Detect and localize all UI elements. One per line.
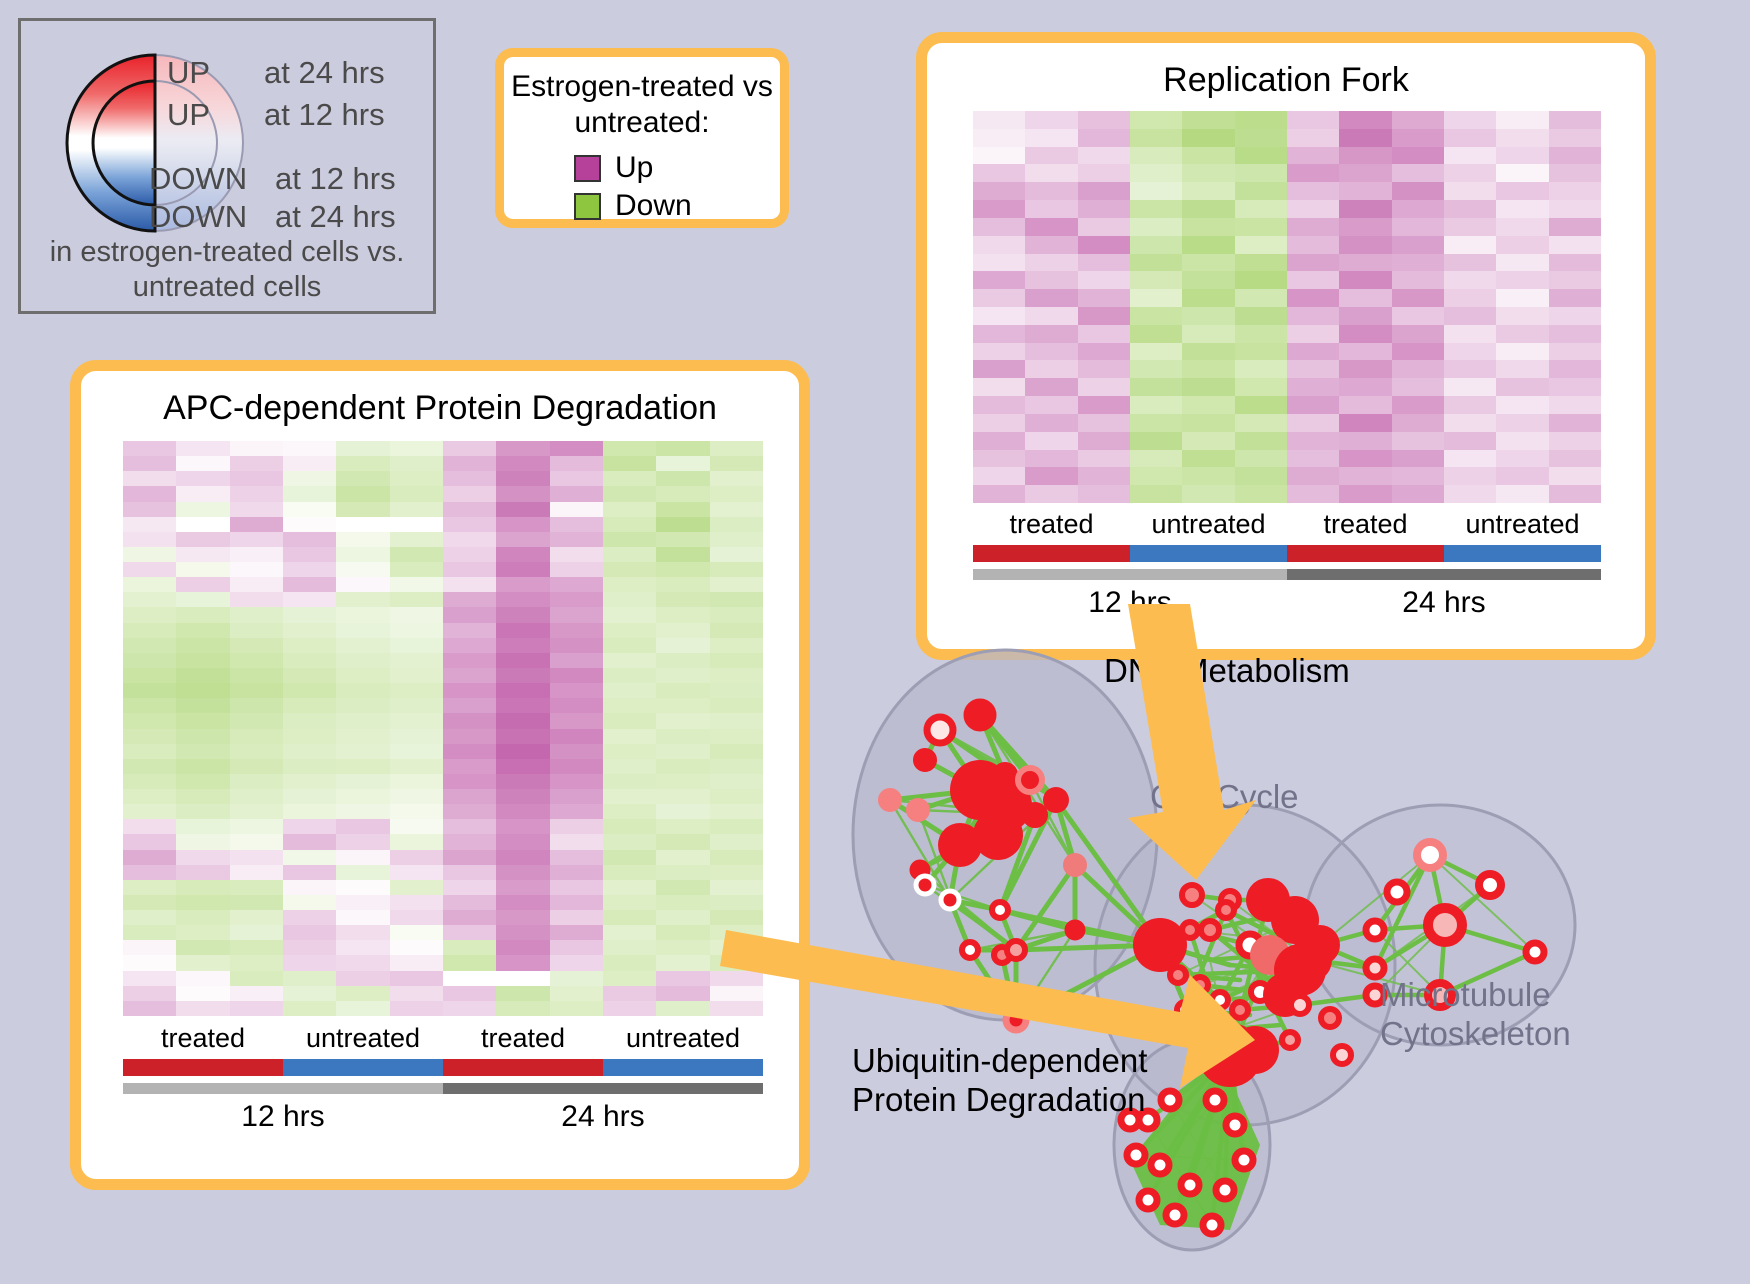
heatmap-cell	[230, 910, 283, 925]
heatmap-cell	[1025, 164, 1077, 182]
heatmap-cell	[1339, 450, 1391, 468]
heatmap-cell	[1078, 164, 1130, 182]
heatmap-cell	[550, 804, 603, 819]
heatmap-cell	[283, 517, 336, 532]
heatmap-cell	[1025, 360, 1077, 378]
heatmap-cell	[390, 562, 443, 577]
heatmap-cell	[603, 1001, 656, 1016]
heatmap-cell	[496, 441, 549, 456]
heatmap-cell	[1392, 111, 1444, 129]
heatmap-cell	[603, 759, 656, 774]
heatmap-cell	[390, 865, 443, 880]
heatmap-cell	[1235, 271, 1287, 289]
heatmap-cell	[1182, 289, 1234, 307]
panel-replication-fork-title: Replication Fork	[927, 61, 1645, 100]
heatmap-cell	[1078, 147, 1130, 165]
heatmap-cell	[390, 729, 443, 744]
heatmap-cell	[496, 486, 549, 501]
heatmap-cell	[973, 467, 1025, 485]
heatmap-cell	[283, 607, 336, 622]
heatmap-cell	[656, 713, 709, 728]
heatmap-cell	[550, 834, 603, 849]
heatmap-cell	[390, 880, 443, 895]
heatmap-cell	[973, 218, 1025, 236]
heatmap-cell	[1392, 432, 1444, 450]
heatmap-cell	[336, 880, 389, 895]
heatmap-cell	[230, 804, 283, 819]
heatmap-cell	[496, 925, 549, 940]
heatmap-cell	[1392, 147, 1444, 165]
heatmap-cell	[603, 744, 656, 759]
heatmap-cell	[1235, 129, 1287, 147]
time-bar-24hrs	[1287, 569, 1601, 580]
heatmap-cell	[656, 910, 709, 925]
heatmap-cell	[973, 147, 1025, 165]
heatmap-cell	[603, 910, 656, 925]
heatmap-cell	[973, 396, 1025, 414]
heatmap-cell	[496, 986, 549, 1001]
heatmap-cell	[496, 880, 549, 895]
heatmap-cell	[176, 971, 229, 986]
heatmap-cell	[390, 1001, 443, 1016]
heatmap-cell	[1025, 343, 1077, 361]
heatmap-cell	[1339, 129, 1391, 147]
heatmap-cell	[710, 819, 763, 834]
heatmap-cell	[123, 638, 176, 653]
heatmap-cell	[443, 592, 496, 607]
heatmap-cell	[1444, 111, 1496, 129]
heatmap-cell	[603, 441, 656, 456]
heatmap-cell	[496, 759, 549, 774]
heatmap-cell	[390, 486, 443, 501]
heatmap-cell	[603, 834, 656, 849]
heatmap-cell	[283, 592, 336, 607]
heatmap-cell	[390, 517, 443, 532]
heatmap-cell	[443, 880, 496, 895]
heatmap-cell	[1078, 111, 1130, 129]
heatmap-cell	[1025, 432, 1077, 450]
heatmap-cell	[656, 517, 709, 532]
heatmap-cell	[283, 502, 336, 517]
heatmap-cell	[283, 729, 336, 744]
heatmap-cell	[1182, 485, 1234, 503]
heatmap-cell	[1496, 378, 1548, 396]
heatmap-cell	[336, 895, 389, 910]
heatmap-cell	[123, 940, 176, 955]
heatmap-cell	[176, 729, 229, 744]
heatmap-cell	[1444, 289, 1496, 307]
heatmap-cell	[230, 713, 283, 728]
heatmap-cell	[336, 744, 389, 759]
heatmap-cell	[390, 668, 443, 683]
heatmap-cell	[176, 865, 229, 880]
heatmap-cell	[336, 547, 389, 562]
heatmap-cell	[336, 834, 389, 849]
heatmap-cell	[656, 744, 709, 759]
heatmap-cell	[1130, 254, 1182, 272]
heatmap-cell	[1025, 147, 1077, 165]
heatmap-cell	[550, 729, 603, 744]
treatment-bar-untreated-12	[283, 1059, 443, 1076]
heatmap-cell	[1078, 378, 1130, 396]
heatmap-cell	[1235, 218, 1287, 236]
heatmap-cell	[710, 865, 763, 880]
heatmap-cell	[390, 683, 443, 698]
heatmap-cell	[1078, 343, 1130, 361]
heatmap-cell	[390, 955, 443, 970]
heatmap-cell	[1235, 343, 1287, 361]
heatmap-cell	[1392, 360, 1444, 378]
heatmap-cell	[443, 577, 496, 592]
heatmap-cell	[710, 502, 763, 517]
heatmap-cell	[550, 562, 603, 577]
heatmap-cell	[1444, 396, 1496, 414]
heatmap-cell	[176, 441, 229, 456]
heatmap-cell	[550, 683, 603, 698]
heatmap-cell	[176, 471, 229, 486]
heatmap-cell	[390, 925, 443, 940]
heatmap-cell	[550, 910, 603, 925]
heatmap-cell	[336, 502, 389, 517]
heatmap-cell	[336, 577, 389, 592]
heatmap-cell	[1025, 271, 1077, 289]
heatmap-cell	[123, 486, 176, 501]
heatmap-cell	[496, 910, 549, 925]
heatmap-cell	[550, 623, 603, 638]
heatmap-cell	[443, 910, 496, 925]
heatmap-cell	[496, 834, 549, 849]
heatmap-cell	[1339, 254, 1391, 272]
heatmap-cell	[603, 940, 656, 955]
heatmap-cell	[123, 456, 176, 471]
heatmap-cell	[603, 668, 656, 683]
heatmap-cell	[1025, 129, 1077, 147]
heatmap-cell	[710, 486, 763, 501]
heatmap-cell	[1496, 271, 1548, 289]
heatmap-cell	[656, 774, 709, 789]
heatmap-cell	[1182, 271, 1234, 289]
heatmap-cell	[603, 547, 656, 562]
heatmap-cell	[550, 955, 603, 970]
heatmap-cell	[230, 850, 283, 865]
heatmap-cell	[443, 774, 496, 789]
heatmap-cell	[1392, 218, 1444, 236]
heatmap-cell	[710, 834, 763, 849]
heatmap-cell	[1287, 485, 1339, 503]
heatmap-cell	[973, 325, 1025, 343]
heatmap-cell	[496, 683, 549, 698]
heatmap-cell	[550, 986, 603, 1001]
heatmap-cell	[1078, 218, 1130, 236]
heatmap-cell	[283, 623, 336, 638]
heatmap-cell	[176, 638, 229, 653]
heatmap-cell	[550, 819, 603, 834]
heatmap-cell	[603, 865, 656, 880]
heatmap-cell	[550, 774, 603, 789]
heatmap-cell	[1130, 432, 1182, 450]
heatmap-cell	[123, 744, 176, 759]
heatmap-cell	[283, 668, 336, 683]
heatmap-cell	[230, 789, 283, 804]
heatmap-cell	[390, 819, 443, 834]
heatmap-cell	[336, 592, 389, 607]
heatmap-cell	[1444, 271, 1496, 289]
heatmap-cell	[443, 789, 496, 804]
heatmap-cell	[176, 698, 229, 713]
heatmap-cell	[1339, 343, 1391, 361]
heatmap-cell	[1235, 396, 1287, 414]
heatmap-cell	[1235, 414, 1287, 432]
heatmap-cell	[336, 698, 389, 713]
heatmap-cell	[443, 713, 496, 728]
heatmap-cell	[230, 607, 283, 622]
treatment-bar-treated-12	[123, 1059, 283, 1076]
heatmap-cell	[1182, 307, 1234, 325]
pathway-network-diagram: DNA Metabolism Cell Cycle Microtubule Cy…	[830, 600, 1750, 1279]
heatmap-cell	[550, 638, 603, 653]
heatmap-cell	[973, 129, 1025, 147]
heatmap-cell	[1130, 467, 1182, 485]
heatmap-cell	[1235, 360, 1287, 378]
heatmap-cell	[176, 456, 229, 471]
heatmap-cell	[603, 502, 656, 517]
heatmap-cell	[550, 865, 603, 880]
heatmap-cell	[1182, 450, 1234, 468]
heatmap-cell	[390, 592, 443, 607]
heatmap-cell	[390, 577, 443, 592]
heatmap-cell	[603, 471, 656, 486]
heatmap-cell	[336, 940, 389, 955]
heatmap-cell	[230, 744, 283, 759]
heatmap-cell	[603, 577, 656, 592]
heatmap-cell	[1287, 147, 1339, 165]
heatmap-cell	[1130, 343, 1182, 361]
heatmap-cell	[1339, 289, 1391, 307]
heatmap-cell	[973, 200, 1025, 218]
heatmap-cell	[496, 607, 549, 622]
heatmap-cell	[1025, 182, 1077, 200]
heatmap-cell	[390, 532, 443, 547]
heatmap-cell	[550, 925, 603, 940]
heatmap-cell	[496, 547, 549, 562]
heatmap-cell	[336, 713, 389, 728]
heatmap-cell	[176, 789, 229, 804]
heatmap-cell	[123, 532, 176, 547]
heatmap-cell	[496, 804, 549, 819]
heatmap-cell	[710, 607, 763, 622]
heatmap-cell	[1025, 254, 1077, 272]
heatmap-cell	[230, 971, 283, 986]
heatmap-cell	[1287, 236, 1339, 254]
expression-legend-box: UP at 24 hrs UP at 12 hrs DOWN at 12 hrs…	[18, 18, 436, 314]
heatmap-cell	[283, 547, 336, 562]
heatmap-cell	[230, 471, 283, 486]
heatmap-cell	[176, 683, 229, 698]
heatmap-cell	[1549, 218, 1601, 236]
heatmap-cell	[656, 986, 709, 1001]
heatmap-cell	[1287, 182, 1339, 200]
heatmap-cell	[176, 895, 229, 910]
heatmap-cell	[390, 653, 443, 668]
heatmap-cell	[176, 713, 229, 728]
heatmap-cell	[656, 1001, 709, 1016]
heatmap-cell	[123, 668, 176, 683]
heatmap-cell	[656, 471, 709, 486]
heatmap-cell	[550, 653, 603, 668]
heatmap-cell	[496, 698, 549, 713]
heatmap-cell	[1496, 485, 1548, 503]
heatmap-cell	[1444, 129, 1496, 147]
heatmap-cell	[550, 607, 603, 622]
heatmap-cell	[283, 834, 336, 849]
heatmap-cell	[176, 744, 229, 759]
heatmap-cell	[496, 502, 549, 517]
heatmap-cell	[710, 744, 763, 759]
heatmap-cell	[1392, 164, 1444, 182]
heatmap-cell	[1182, 414, 1234, 432]
heatmap-cell	[1339, 218, 1391, 236]
heatmap-cell	[1549, 467, 1601, 485]
heatmap-cell	[390, 623, 443, 638]
heatmap-cell	[336, 486, 389, 501]
heatmap-cell	[1549, 271, 1601, 289]
heatmap-cell	[710, 698, 763, 713]
heatmap-cell	[1025, 414, 1077, 432]
heatmap-cell	[390, 698, 443, 713]
heatmap-cell	[123, 592, 176, 607]
heatmap-cell	[1496, 396, 1548, 414]
heatmap-cell	[1339, 467, 1391, 485]
heatmap-cell	[1392, 129, 1444, 147]
heatmap-cell	[443, 834, 496, 849]
heatmap-cell	[603, 562, 656, 577]
heatmap-cell	[443, 456, 496, 471]
heatmap-cell	[656, 638, 709, 653]
heatmap-cell	[123, 698, 176, 713]
heatmap-cell	[1392, 307, 1444, 325]
heatmap-cell	[1339, 378, 1391, 396]
heatmap-cell	[710, 895, 763, 910]
heatmap-cell	[1182, 325, 1234, 343]
heatmap-cell	[336, 441, 389, 456]
heatmap-cell	[123, 789, 176, 804]
heatmap-cell	[443, 502, 496, 517]
heatmap-cell	[710, 653, 763, 668]
heatmap-cell	[123, 880, 176, 895]
heatmap-cell	[710, 986, 763, 1001]
heatmap-cell	[123, 713, 176, 728]
heatmap-cell	[1130, 200, 1182, 218]
heatmap-cell	[1025, 236, 1077, 254]
heatmap-cell	[656, 441, 709, 456]
heatmap-cell	[390, 456, 443, 471]
heatmap-cell	[1287, 129, 1339, 147]
heatmap-cell	[1078, 485, 1130, 503]
heatmap-cell	[1496, 200, 1548, 218]
heatmap-cell	[656, 698, 709, 713]
heatmap-cell	[176, 517, 229, 532]
heatmap-cell	[230, 729, 283, 744]
heatmap-cell	[176, 880, 229, 895]
heatmap-cell	[496, 456, 549, 471]
heatmap-cell	[230, 1001, 283, 1016]
heatmap-cell	[1235, 467, 1287, 485]
heatmap-cell	[1287, 200, 1339, 218]
heatmap-cell	[550, 592, 603, 607]
heatmap-cell	[1235, 325, 1287, 343]
heatmap-cell	[336, 789, 389, 804]
heatmap-cell	[1339, 182, 1391, 200]
heatmap-cell	[1549, 396, 1601, 414]
heatmap-cell	[656, 819, 709, 834]
heatmap-cell	[656, 971, 709, 986]
heatmap-cell	[710, 668, 763, 683]
heatmap-cell	[283, 653, 336, 668]
heatmap-cell	[230, 456, 283, 471]
heatmap-cell	[1078, 360, 1130, 378]
heatmap-cell	[1182, 343, 1234, 361]
legend-row-1-time: at 12 hrs	[264, 97, 385, 132]
heatmap-cell	[603, 486, 656, 501]
heatmap-cell	[1235, 289, 1287, 307]
heatmap-cell	[443, 471, 496, 486]
heatmap-cell	[656, 668, 709, 683]
heatmap-cell	[1287, 271, 1339, 289]
heatmap-cell	[603, 986, 656, 1001]
heatmap-cell	[1182, 200, 1234, 218]
heatmap-cell	[710, 774, 763, 789]
heatmap-replication-fork	[973, 111, 1601, 503]
heatmap-cell	[603, 925, 656, 940]
heatmap-cell	[1130, 271, 1182, 289]
heatmap-cell	[1078, 325, 1130, 343]
heatmap-cell	[550, 698, 603, 713]
heatmap-cell	[656, 789, 709, 804]
heatmap-cell	[443, 623, 496, 638]
key-item-down: Down	[574, 189, 692, 223]
heatmap-cell	[1078, 396, 1130, 414]
heatmap-cell	[656, 456, 709, 471]
heatmap-cell	[656, 865, 709, 880]
heatmap-cell	[496, 1001, 549, 1016]
heatmap-cell	[230, 774, 283, 789]
heatmap-cell	[390, 759, 443, 774]
heatmap-cell	[603, 774, 656, 789]
heatmap-cell	[1287, 450, 1339, 468]
network-svg	[830, 600, 1750, 1279]
heatmap-cell	[1182, 360, 1234, 378]
heatmap-cell	[656, 683, 709, 698]
heatmap-cell	[390, 986, 443, 1001]
heatmap-cell	[230, 577, 283, 592]
heatmap-cell	[1549, 378, 1601, 396]
heatmap-cell	[176, 925, 229, 940]
replication-fork-group-labels: treated untreated treated untreated	[973, 509, 1601, 540]
treatment-bar-treated-24	[1287, 545, 1444, 562]
treatment-bar-untreated-24	[603, 1059, 763, 1076]
heatmap-cell	[1496, 182, 1548, 200]
treatment-bar-treated-12	[973, 545, 1130, 562]
heatmap-cell	[1549, 450, 1601, 468]
heatmap-cell	[550, 532, 603, 547]
heatmap-cell	[283, 789, 336, 804]
heatmap-cell	[283, 850, 336, 865]
heatmap-cell	[123, 759, 176, 774]
cluster-label-microtubule-cytoskeleton: Microtubule Cytoskeleton	[1380, 976, 1571, 1054]
heatmap-cell	[550, 486, 603, 501]
heatmap-cell	[123, 865, 176, 880]
heatmap-cell	[443, 638, 496, 653]
